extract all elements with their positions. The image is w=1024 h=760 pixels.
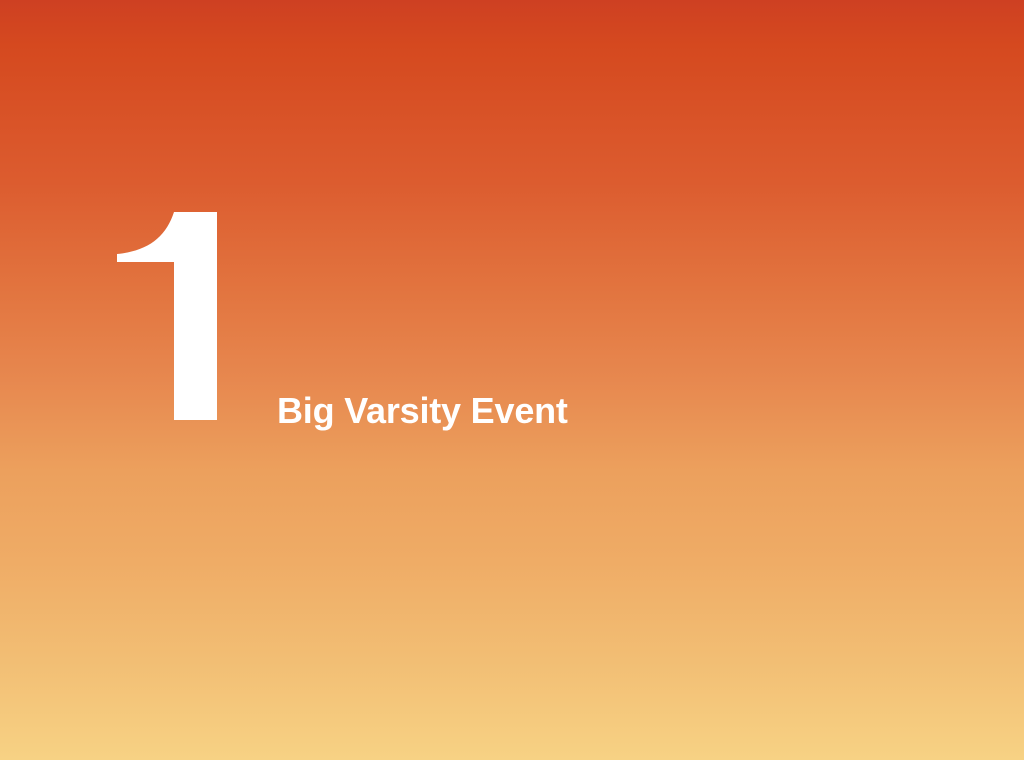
slide-title: Big Varsity Event [277,390,568,432]
title-slide: 1 Big Varsity Event [0,0,1024,760]
slide-number-one-icon [108,204,238,432]
numeral-one-shape [108,204,238,432]
